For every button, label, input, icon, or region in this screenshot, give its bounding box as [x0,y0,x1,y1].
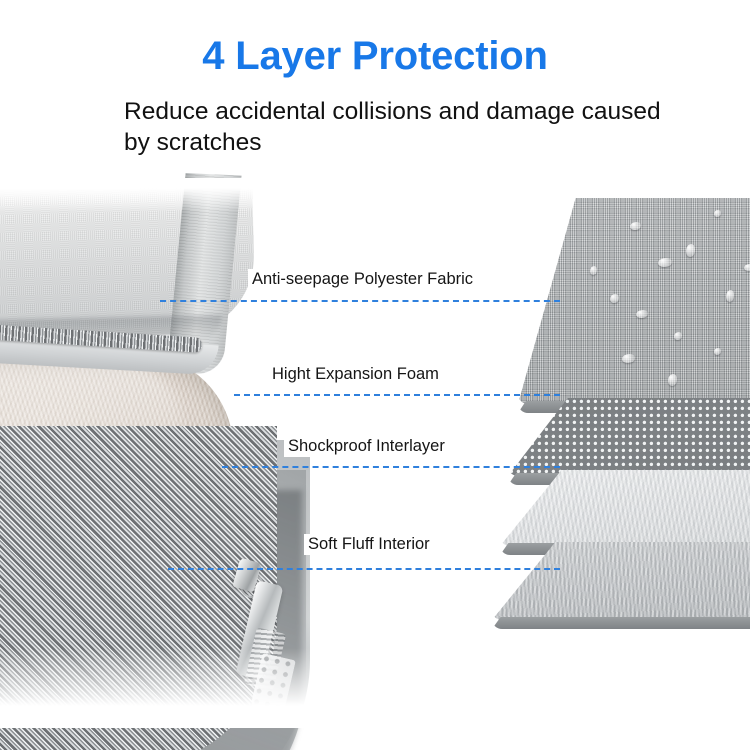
water-droplet [610,294,619,303]
water-droplet [674,332,682,340]
leader-line-2 [234,394,560,396]
layer-4-surface [492,542,750,620]
water-droplet [630,222,641,230]
leader-line-4 [168,568,560,570]
water-droplet [658,258,672,267]
water-droplet [714,210,721,217]
layer-2-surface [508,398,750,476]
leader-line-1 [160,300,560,302]
water-droplet [744,264,750,271]
layer-soft-fluff-interior [492,542,750,620]
callout-label-anti-seepage-polyester-fabric: Anti-seepage Polyester Fabric [248,269,477,290]
callout-label-soft-fluff-interior: Soft Fluff Interior [304,534,434,555]
layer-3-surface [500,470,750,546]
leader-line-3 [222,466,560,468]
water-droplet [714,348,721,355]
callout-label-hight-expansion-foam: Hight Expansion Foam [268,364,443,385]
layer-shockproof-interlayer [508,398,750,476]
water-droplet [668,374,677,386]
water-droplet [622,354,635,363]
water-droplet [636,310,648,318]
water-droplet [686,244,695,257]
callout-label-shockproof-interlayer: Shockproof Interlayer [284,436,449,457]
water-droplet [726,290,734,302]
water-droplet [590,266,597,275]
layer-4-edge [492,617,750,629]
infographic-canvas: 4 Layer Protection Reduce accidental col… [0,0,750,750]
layer-hight-expansion-foam [500,470,750,546]
